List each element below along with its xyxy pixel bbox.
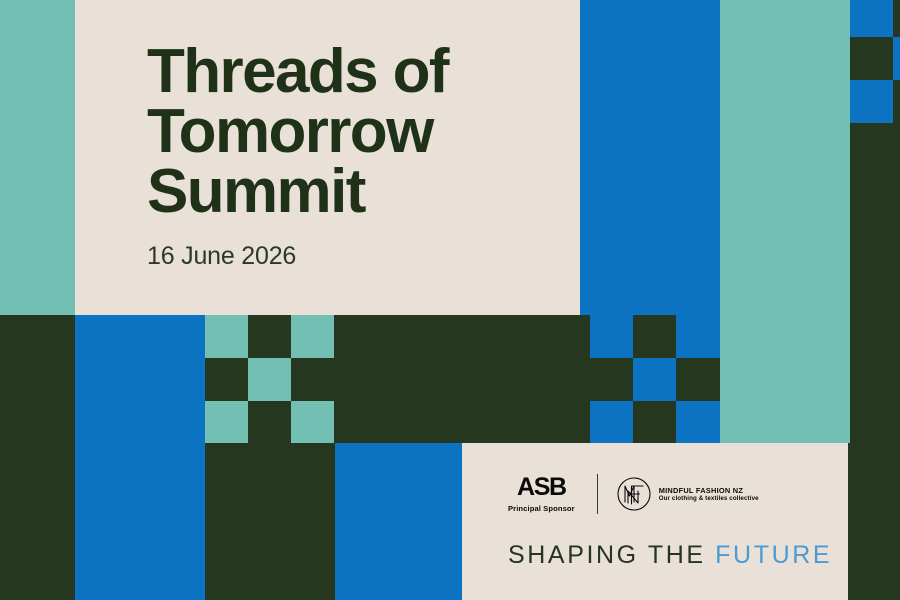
checker-tr-blue-1 [850, 0, 893, 37]
tagline-accent: FUTURE [715, 541, 832, 569]
bottom-blue-left [75, 443, 205, 600]
mid-checker-teal-r1c3 [291, 315, 334, 358]
mid-teal-right [720, 315, 850, 445]
mindful-fashion-tagline: Our clothing & textiles collective [659, 495, 759, 503]
mid-checker-dark-r3c2 [633, 401, 676, 444]
asb-sponsor-label: Principal Sponsor [508, 500, 575, 513]
mid-blue-left [75, 315, 205, 445]
event-date: 16 June 2026 [147, 222, 567, 271]
title-stack: Threads of Tomorrow Summit 16 June 2026 [147, 42, 567, 271]
event-poster: Threads of Tomorrow Summit 16 June 2026 … [0, 0, 900, 600]
mid-checker-teal-r3c1 [205, 401, 248, 444]
page-title: Threads of Tomorrow Summit [147, 42, 567, 222]
mid-checker-teal-r3c3 [291, 401, 334, 444]
mindful-fashion-name: MINDFUL FASHION NZ [659, 486, 759, 495]
asb-wordmark: ASB [517, 475, 566, 500]
mid-checker-teal-r2c2 [248, 358, 291, 401]
checker-tr-blue-2 [893, 37, 900, 80]
teal-column-right-top [720, 0, 850, 315]
title-panel: Threads of Tomorrow Summit 16 June 2026 [75, 0, 580, 315]
mid-checker-dark-r1c2 [633, 315, 676, 358]
asb-logo: ASB Principal Sponsor [508, 475, 575, 513]
campaign-tagline: SHAPING THE FUTURE [508, 541, 832, 570]
bottom-blue-center [335, 443, 462, 600]
mindful-fashion-monogram-icon [617, 477, 651, 511]
sponsor-row: ASB Principal Sponsor MINDFUL FASHION NZ… [508, 471, 759, 517]
mid-checker-dark-r2c1 [590, 358, 633, 401]
checker-tr-blue-3 [850, 80, 893, 123]
mid-checker-dark-r2c3 [676, 358, 720, 401]
blue-column-center-top [580, 0, 720, 315]
tagline-lead: SHAPING THE [508, 541, 706, 569]
mindful-fashion-logo: MINDFUL FASHION NZ Our clothing & textil… [617, 477, 759, 511]
sponsor-panel: ASB Principal Sponsor MINDFUL FASHION NZ… [462, 443, 848, 600]
mindful-fashion-text: MINDFUL FASHION NZ Our clothing & textil… [651, 486, 759, 503]
mid-checker-teal-r1c1 [205, 315, 248, 358]
teal-column-left-top [0, 0, 75, 315]
divider [597, 474, 598, 514]
